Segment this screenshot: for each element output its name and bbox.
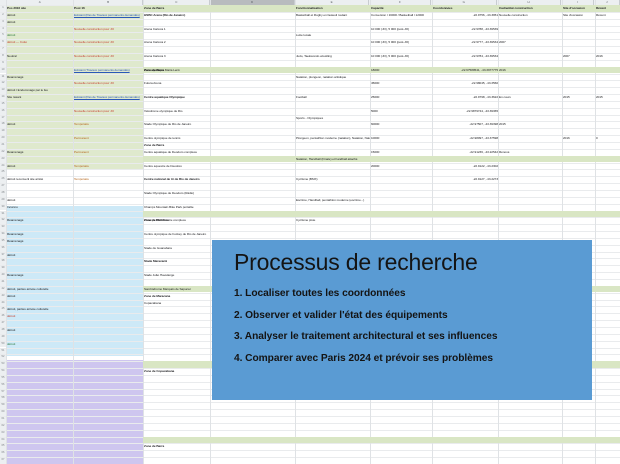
grid-cell[interactable]: 25000: [370, 94, 432, 101]
grid-cell[interactable]: Post 16: [73, 5, 143, 12]
grid-cell[interactable]: détruit: [6, 293, 73, 300]
grid-cell[interactable]: Temporaire: [73, 121, 143, 128]
grid-line-h: [0, 231, 620, 232]
grid-cell[interactable]: Existant (Travaux permanents demandés): [73, 67, 143, 74]
grid-cell[interactable]: Nouvelle construction pour JO: [73, 39, 143, 46]
grid-cell[interactable]: Centre national de tir de Rio de Janeiro: [143, 176, 210, 183]
grid-cell[interactable]: -22.98045, -43.3560: [432, 80, 500, 87]
grid-line-h: [0, 450, 620, 451]
grid-cell[interactable]: détruit: [6, 12, 73, 19]
grid-cell[interactable]: Football: [295, 94, 370, 101]
grid-line-h: [0, 46, 620, 47]
grid-line-h: [0, 443, 620, 444]
grid-cell[interactable]: détruit: [6, 19, 73, 26]
grid-line-h: [0, 101, 620, 102]
overlay-title: Processus de recherche: [234, 249, 478, 276]
grid-cell[interactable]: -22.9127, -43.2273: [432, 176, 500, 183]
section-band: [143, 437, 620, 444]
grid-cell[interactable]: Existant (Pas de Travaux permanents dema…: [73, 12, 143, 19]
grid-cell[interactable]: Lutte locale: [295, 32, 370, 39]
grid-cell[interactable]: Réaménagé: [6, 272, 73, 279]
grid-cell[interactable]: Réaménagé: [6, 238, 73, 245]
grid-cell[interactable]: Temporaire: [73, 163, 143, 170]
grid-cell[interactable]: 2016: [562, 135, 595, 142]
grid-cell[interactable]: Zone de Deodoro: [143, 217, 210, 224]
grid-cell[interactable]: Fonctionnalisation: [295, 5, 370, 12]
process-overlay-panel: Processus de recherche 1. Localiser tout…: [212, 240, 592, 400]
grid-cell[interactable]: détruit: [6, 327, 73, 334]
grid-cell[interactable]: Zone de Barra: [143, 443, 210, 450]
grid-cell[interactable]: Natation, plongeon, natation artistique: [295, 74, 370, 81]
grid-cell[interactable]: Réaménagé: [6, 217, 73, 224]
grid-line-h: [0, 87, 620, 88]
grid-cell[interactable]: 18000: [370, 67, 432, 74]
grid-cell[interactable]: -22.9879744, -43.39365: [432, 108, 500, 115]
overlay-step-2: 2. Observer et valider l'état des équipe…: [234, 310, 582, 321]
grid-cell[interactable]: Réaménagé: [6, 149, 73, 156]
grid-cell[interactable]: -22.97589541, -43.3977775: [432, 67, 500, 74]
grid-cell[interactable]: Récent: [595, 12, 620, 19]
grid-cell[interactable]: détruit: [6, 341, 73, 348]
grid-line-h: [0, 204, 620, 205]
grid-cell[interactable]: 2016: [498, 67, 562, 74]
grid-cell[interactable]: 10 000 (JO), 5 000 (post-JO): [370, 53, 432, 60]
screenshot-root: A B C D E F G H I J 12345678910111213141…: [0, 0, 620, 464]
grid-cell[interactable]: Zone de Copacabana: [143, 368, 210, 375]
grid-line-h: [0, 416, 620, 417]
grid-line-h: [0, 409, 620, 410]
grid-cell[interactable]: Stade Maracanã: [143, 258, 210, 265]
grid-cell[interactable]: Conversion / 16000 / Basketball / 12000: [370, 12, 432, 19]
overlay-step-1: 1. Localiser toutes les coordonnées: [234, 288, 582, 299]
grid-cell[interactable]: Futura Arena: [143, 80, 210, 87]
grid-cell[interactable]: Réaménagé: [6, 74, 73, 81]
grid-cell[interactable]: Permanent: [73, 149, 143, 156]
grid-cell[interactable]: Rénové: [498, 149, 562, 156]
grid-cell[interactable]: -22.9777, -43.39534: [432, 39, 500, 46]
grid-cell[interactable]: Vélodrome olympique de Rio: [143, 108, 210, 115]
overlay-step-list: 1. Localiser toutes les coordonnées 2. O…: [234, 288, 582, 374]
grid-line-h: [0, 19, 620, 20]
grid-cell[interactable]: détruit / Endommagé par le feu: [6, 87, 73, 94]
grid-cell[interactable]: Sambódromo Marquês de Sapucaí: [143, 286, 210, 293]
grid-cell[interactable]: Capacité: [370, 5, 432, 12]
grid-cell[interactable]: Plongeon, pentathlon moderne (natation),…: [295, 135, 370, 142]
grid-cell[interactable]: Centre aquatique Olympique: [143, 94, 210, 101]
grid-cell[interactable]: 10000: [370, 135, 432, 142]
grid-cell[interactable]: Zone de Barra: [143, 67, 210, 74]
grid-line-h: [0, 128, 620, 129]
grid-cell[interactable]: 45000: [370, 80, 432, 87]
grid-line-h: [0, 190, 620, 191]
grid-cell[interactable]: Centre olympique de tennis: [143, 135, 210, 142]
grid-cell[interactable]: 2007: [498, 39, 562, 46]
grid-cell[interactable]: détruit reconverti site arrêté: [6, 176, 73, 183]
grid-cell[interactable]: Basketball et Rugby en fauteuil roulant: [295, 12, 370, 19]
grid-line-h: [0, 169, 620, 170]
grid-cell[interactable]: Inconnu: [6, 204, 73, 211]
grid-cell[interactable]: Récent: [595, 5, 620, 12]
grid-cell[interactable]: 10 000 (JO), 5 000 (post-JO): [370, 26, 432, 33]
grid-cell[interactable]: Zone de Barra: [143, 142, 210, 149]
grid-line-h: [0, 142, 620, 143]
grid-cell[interactable]: 20000: [370, 163, 432, 170]
grid-cell[interactable]: -22.98097, -43.37598: [432, 135, 500, 142]
grid-line-h: [0, 423, 620, 424]
grid-cell[interactable]: 5000: [370, 108, 432, 115]
grid-cell[interactable]: Permanent: [73, 135, 143, 142]
grid-cell[interactable]: 2015: [595, 94, 620, 101]
section-band: [143, 156, 620, 163]
grid-cell[interactable]: détruit — Cuité: [6, 39, 73, 46]
grid-cell[interactable]: 10 000 (JO), 5 000 (post-JO): [370, 39, 432, 46]
grid-line-h: [0, 430, 620, 431]
grid-cell[interactable]: Arena Carioca 3: [143, 53, 210, 60]
grid-cell[interactable]: Existant (Pas de Travaux permanents dema…: [73, 94, 143, 101]
grid-cell[interactable]: Nouvelle construction pour JO: [73, 80, 143, 87]
grid-cell[interactable]: Site d'occasion: [562, 12, 595, 19]
grid-cell[interactable]: En cours: [498, 94, 562, 101]
grid-cell[interactable]: détruit: [6, 121, 73, 128]
grid-cell[interactable]: Stade João Havelange: [143, 272, 210, 279]
grid-line-h: [0, 457, 620, 458]
grid-cell[interactable]: Champs Mountain Bike Park portable: [143, 204, 210, 211]
grid-cell[interactable]: Sports - Olympiques: [295, 115, 370, 122]
grid-cell[interactable]: Centre aquatique de Deodoro complexe: [143, 149, 210, 156]
grid-cell[interactable]: 0: [595, 135, 620, 142]
grid-cell[interactable]: -22.9784, -43.39534: [432, 53, 500, 60]
section-band: [143, 211, 620, 218]
grid-cell[interactable]: 2015: [498, 121, 562, 128]
grid-line-h: [0, 224, 620, 225]
grid-cell[interactable]: Natation, Handball (Finale) et handball …: [295, 156, 370, 163]
grid-line-h: [0, 183, 620, 184]
grid-line-h: [0, 60, 620, 61]
grid-cell[interactable]: Escrime, Handball, pentathlon moderne (e…: [295, 197, 370, 204]
grid-cell[interactable]: 2007: [562, 53, 595, 60]
grid-cell[interactable]: Judo, Taekwondo wrestling: [295, 53, 370, 60]
grid-cell[interactable]: Stade Olympique de Rio de Janeiro: [143, 121, 210, 128]
grid-cell[interactable]: 60000: [370, 121, 432, 128]
overlay-step-4: 4. Comparer avec Paris 2024 et prévoir s…: [234, 353, 582, 364]
grid-cell[interactable]: Centre équestre de Deodoro: [143, 163, 210, 170]
grid-cell[interactable]: Zone de Maracana: [143, 293, 210, 300]
grid-cell[interactable]: -22.9788, -43.39539: [432, 26, 500, 33]
grid-cell[interactable]: Réaménagé: [6, 231, 73, 238]
grid-cell[interactable]: détruit, parties arrivée culturelle: [6, 286, 73, 293]
grid-cell[interactable]: 2015: [562, 94, 595, 101]
grid-cell[interactable]: Temporaire: [73, 176, 143, 183]
grid-cell[interactable]: -22.9798, -43.3622: [432, 94, 500, 101]
grid-cell[interactable]: -22.9122, -43.2302: [432, 163, 500, 170]
grid-cell[interactable]: Site rasant: [6, 94, 73, 101]
grid-cell[interactable]: Zone de Barra: [143, 5, 210, 12]
grid-cell[interactable]: Site d'occasion: [562, 5, 595, 12]
grid-cell[interactable]: Pos 2016 site: [6, 5, 73, 12]
grid-cell[interactable]: Coordonnées: [432, 5, 498, 12]
grid-cell[interactable]: -22.9756, -43.3951: [432, 12, 500, 19]
grid-cell[interactable]: Nouvelle construction pour JO: [73, 108, 143, 115]
overlay-step-3: 3. Analyser le traitement architectural …: [234, 331, 582, 342]
grid-cell[interactable]: HSBC Arena (Rio de Janeiro): [143, 12, 210, 19]
grid-cell[interactable]: détruit: [6, 163, 73, 170]
grid-cell[interactable]: Nouvelle construction pour JO: [73, 53, 143, 60]
grid-cell[interactable]: 2016: [595, 53, 620, 60]
grid-cell[interactable]: Arena Carioca 1: [143, 26, 210, 33]
grid-cell[interactable]: Cadre/état construction: [498, 5, 562, 12]
grid-cell[interactable]: Stade Olympique de Deodoro (Rádio): [143, 190, 210, 197]
grid-cell[interactable]: détruit: [6, 32, 73, 39]
grid-cell[interactable]: Cyclisme (BMX): [295, 176, 370, 183]
grid-cell[interactable]: -22.97507, -43.39398: [432, 121, 500, 128]
grid-cell[interactable]: -22.91236, -43.22542: [432, 149, 500, 156]
grid-cell[interactable]: détruit, parties arrivée culturelle: [6, 306, 73, 313]
grid-cell[interactable]: détruit: [6, 313, 73, 320]
grid-cell[interactable]: Nouvelle construction: [498, 12, 562, 19]
grid-line-h: [0, 402, 620, 403]
grid-cell[interactable]: Neutral: [6, 53, 73, 60]
grid-cell[interactable]: Stade de Guanabara: [143, 245, 210, 252]
grid-cell[interactable]: Centre olympique de hockey de Rio de Jan…: [143, 231, 210, 238]
grid-cell[interactable]: détruit: [6, 197, 73, 204]
grid-cell[interactable]: Arena Carioca 2: [143, 39, 210, 46]
grid-cell[interactable]: Copacabana: [143, 300, 210, 307]
grid-cell[interactable]: Cyclisme piste: [295, 217, 370, 224]
grid-cell[interactable]: Nouvelle construction pour JO: [73, 26, 143, 33]
grid-cell[interactable]: détruit: [6, 252, 73, 259]
grid-cell[interactable]: 15000: [370, 149, 432, 156]
